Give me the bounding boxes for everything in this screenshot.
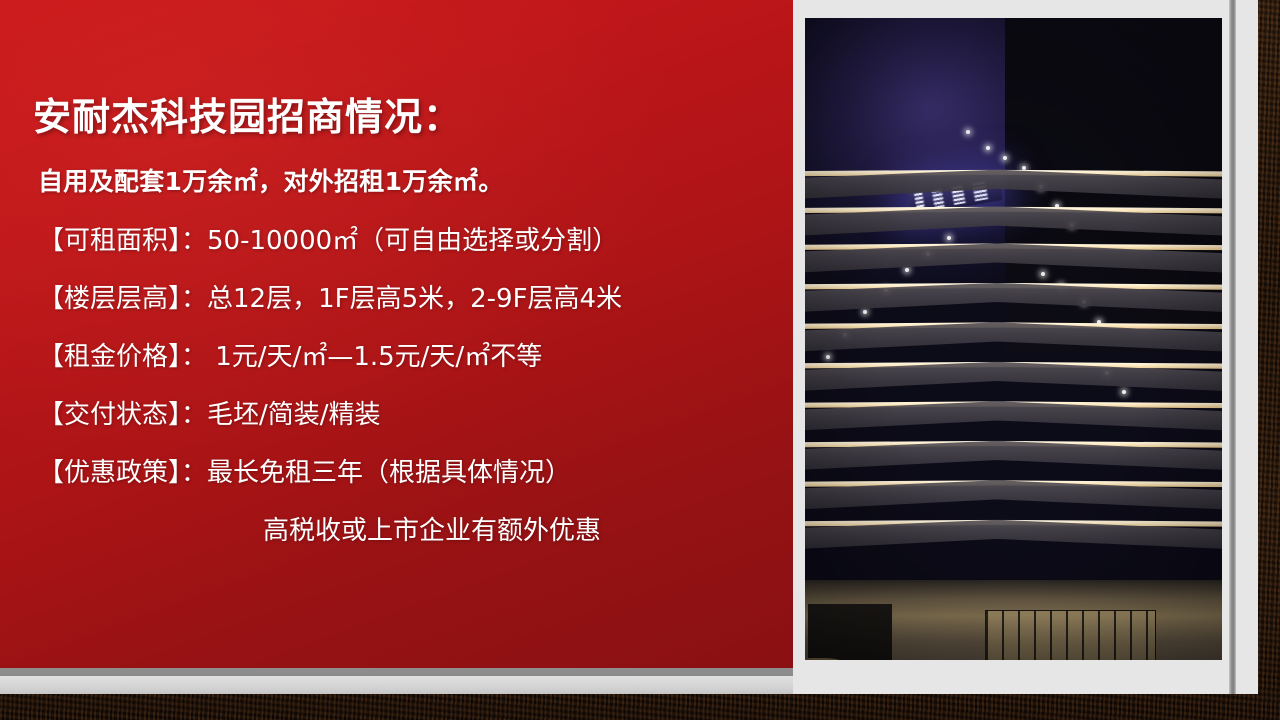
lobby-doorway [808,604,892,660]
list-item: 【可租面积】：50-10000㎡（可自由选择或分割） [38,212,783,270]
page-title: 安耐杰科技园招商情况： [33,86,462,141]
building-facade [805,159,1222,660]
building-lobby [805,580,1222,660]
slide-canvas: 安耐杰科技园招商情况： 自用及配套1万余㎡，对外招租1万余㎡。 【可租面积】：5… [0,0,1280,720]
red-content-panel: 安耐杰科技园招商情况： 自用及配套1万余㎡，对外招租1万余㎡。 【可租面积】：5… [0,0,793,668]
list-item: 【交付状态】：毛坯/简装/精装 [38,386,783,444]
point-light [966,130,970,134]
photo-frame [793,0,1258,694]
list-item: 【租金价格】： 1元/天/㎡—1.5元/天/㎡不等 [38,328,783,386]
point-light [986,146,990,150]
list-item: 【楼层层高】：总12层，1F层高5米，2-9F层高4米 [38,270,783,328]
panel-shadow-strip [0,668,793,676]
slide-subtitle: 自用及配套1万余㎡，对外招租1万余㎡。 [38,162,504,198]
lobby-glass-curtain-wall [985,610,1155,660]
list-item: 高税收或上市企业有额外优惠 [38,502,783,560]
detail-list: 【可租面积】：50-10000㎡（可自由选择或分割） 【楼层层高】：总12层，1… [38,212,783,560]
frame-divider-rule [1229,0,1236,694]
building-night-photo [805,18,1222,660]
list-item: 【优惠政策】：最长免租三年（根据具体情况） [38,444,783,502]
